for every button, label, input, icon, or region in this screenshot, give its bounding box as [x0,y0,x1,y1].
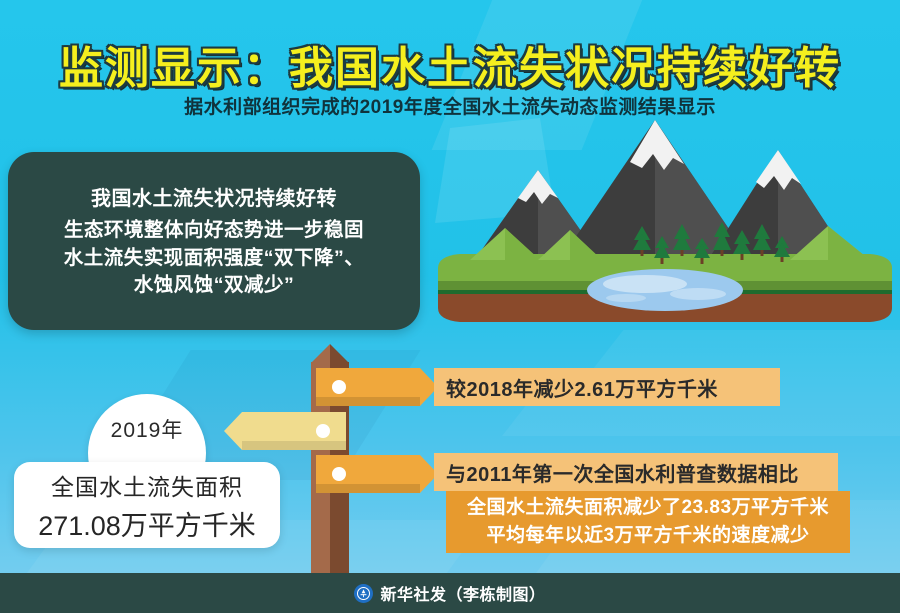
mountain-lake-illustration [430,118,900,333]
statement-line-4: 水蚀风蚀“双减少” [134,272,295,298]
total-area-label: 全国水土流失面积 [51,468,243,502]
pole-tip-right [330,344,349,363]
sign-arrow-left-middle[interactable] [224,412,346,450]
page-title: 监测显示：我国水土流失状况持续好转 [0,32,900,96]
statement-line-1: 我国水土流失状况持续好转 [91,184,337,215]
xinhua-logo-icon [354,584,373,603]
callout-compare-2011-body: 全国水土流失面积减少了23.83万平方千米 平均每年以近3万平方千米的速度减少 [446,491,850,553]
callout-2011-body-line-2: 平均每年以近3万平方千米的速度减少 [486,522,809,550]
callout-2011-header-text: 与2011年第一次全国水利普查数据相比 [446,458,799,487]
footer-bar: 新华社发（李栋制图） [0,573,900,613]
callout-compare-2011-header: 与2011年第一次全国水利普查数据相比 [434,453,838,491]
sign-shadow [316,397,420,406]
callout-2011-body-line-1: 全国水土流失面积减少了23.83万平方千米 [467,494,829,522]
sign-arrow-right-top[interactable] [316,368,438,406]
sign-shadow [316,484,420,493]
sign-dot [316,424,330,438]
sign-dot [332,380,346,394]
footer-credit: 新华社发（李栋制图） [380,581,545,605]
sign-shadow [242,441,346,450]
page-subtitle: 据水利部组织完成的2019年度全国水土流失动态监测结果显示 [0,92,900,119]
infographic-canvas: 监测显示：我国水土流失状况持续好转 据水利部组织完成的2019年度全国水土流失动… [0,0,900,613]
sign-dot [332,467,346,481]
total-area-card: 全国水土流失面积 271.08万平方千米 [14,462,280,548]
total-area-value: 271.08万平方千米 [38,504,256,543]
sign-arrow-tip [224,412,242,450]
year-label: 2019年 [111,414,184,444]
statement-panel: 我国水土流失状况持续好转 生态环境整体向好态势进一步稳固 水土流失实现面积强度“… [8,152,420,330]
sign-arrow-right-bottom[interactable] [316,455,438,493]
statement-line-2: 生态环境整体向好态势进一步稳固 [64,215,364,245]
callout-compare-2018: 较2018年减少2.61万平方千米 [434,368,780,406]
callout-2018-text: 较2018年减少2.61万平方千米 [446,373,718,402]
pole-tip-left [311,344,330,363]
statement-line-3: 水土流失实现面积强度“双下降”、 [64,245,365,271]
